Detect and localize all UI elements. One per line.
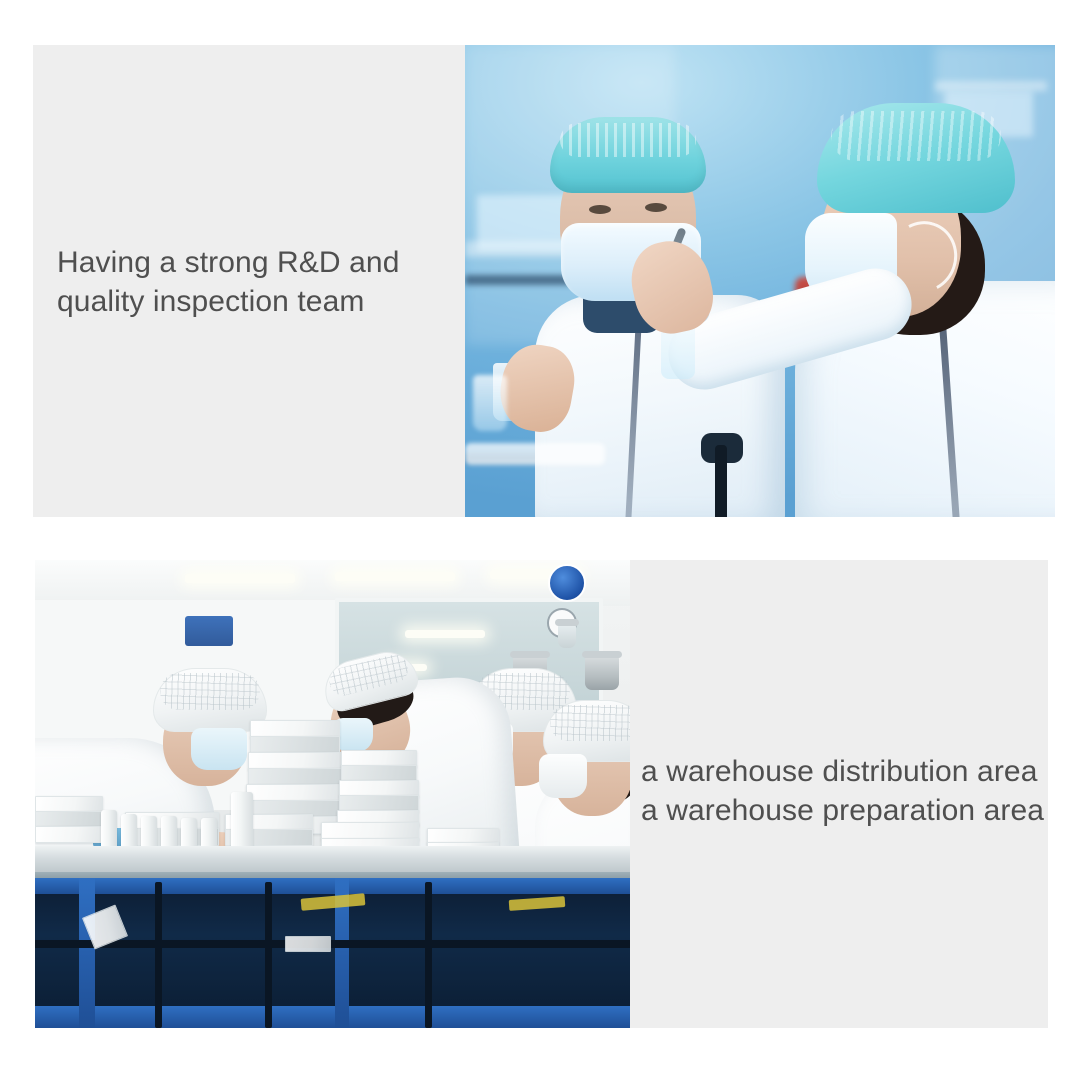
table-blue-rail-bottom: [35, 1006, 630, 1028]
technician-left-eye-2: [645, 203, 667, 212]
lab-stand-pole: [715, 445, 727, 517]
technician-right-hair-cap: [817, 103, 1015, 213]
steel-canister: [558, 624, 576, 648]
worker-1-face-mask: [191, 728, 247, 770]
worker-5-hairnet: [543, 700, 630, 762]
warehouse-packing-photo: [35, 560, 630, 1028]
rd-quality-caption: Having a strong R&D and quality inspecti…: [57, 243, 399, 321]
glassware: [473, 375, 507, 431]
table-blue-rail-top: [35, 878, 630, 894]
banner-canvas: Having a strong R&D and quality inspecti…: [0, 0, 1080, 1080]
lab-shelf-right: [935, 81, 1047, 91]
under-table-post-3: [425, 882, 432, 1028]
rd-quality-caption-line-1: Having a strong R&D and: [57, 243, 399, 282]
ceiling-light: [185, 574, 295, 583]
technician-left-hair-cap: [550, 117, 706, 193]
technician-left-eye: [589, 205, 611, 214]
under-table-rail: [35, 940, 630, 948]
wall-sign-blue: [185, 616, 233, 646]
window-interior-light: [405, 630, 485, 638]
warehouse-caption-line-2: a warehouse preparation area: [641, 791, 1044, 830]
under-table-post-2: [265, 882, 272, 1028]
steel-pot-2: [585, 656, 619, 690]
under-table-post: [155, 882, 162, 1028]
packing-scene: [35, 560, 630, 1028]
lab-tray: [465, 443, 605, 465]
ceiling-light-2: [335, 572, 455, 581]
warehouse-caption: a warehouse distribution area a warehous…: [641, 752, 1044, 830]
ceiling-sign-icon: [548, 564, 586, 602]
worker-5-face-mask: [539, 754, 587, 798]
under-table-carton: [285, 936, 331, 952]
carton: [35, 826, 107, 843]
rd-quality-caption-line-2: quality inspection team: [57, 282, 399, 321]
lab-scene: [465, 45, 1055, 517]
warehouse-caption-line-1: a warehouse distribution area: [641, 752, 1044, 791]
table-blue-leg: [79, 878, 95, 1028]
lab-qc-photo: [465, 45, 1055, 517]
